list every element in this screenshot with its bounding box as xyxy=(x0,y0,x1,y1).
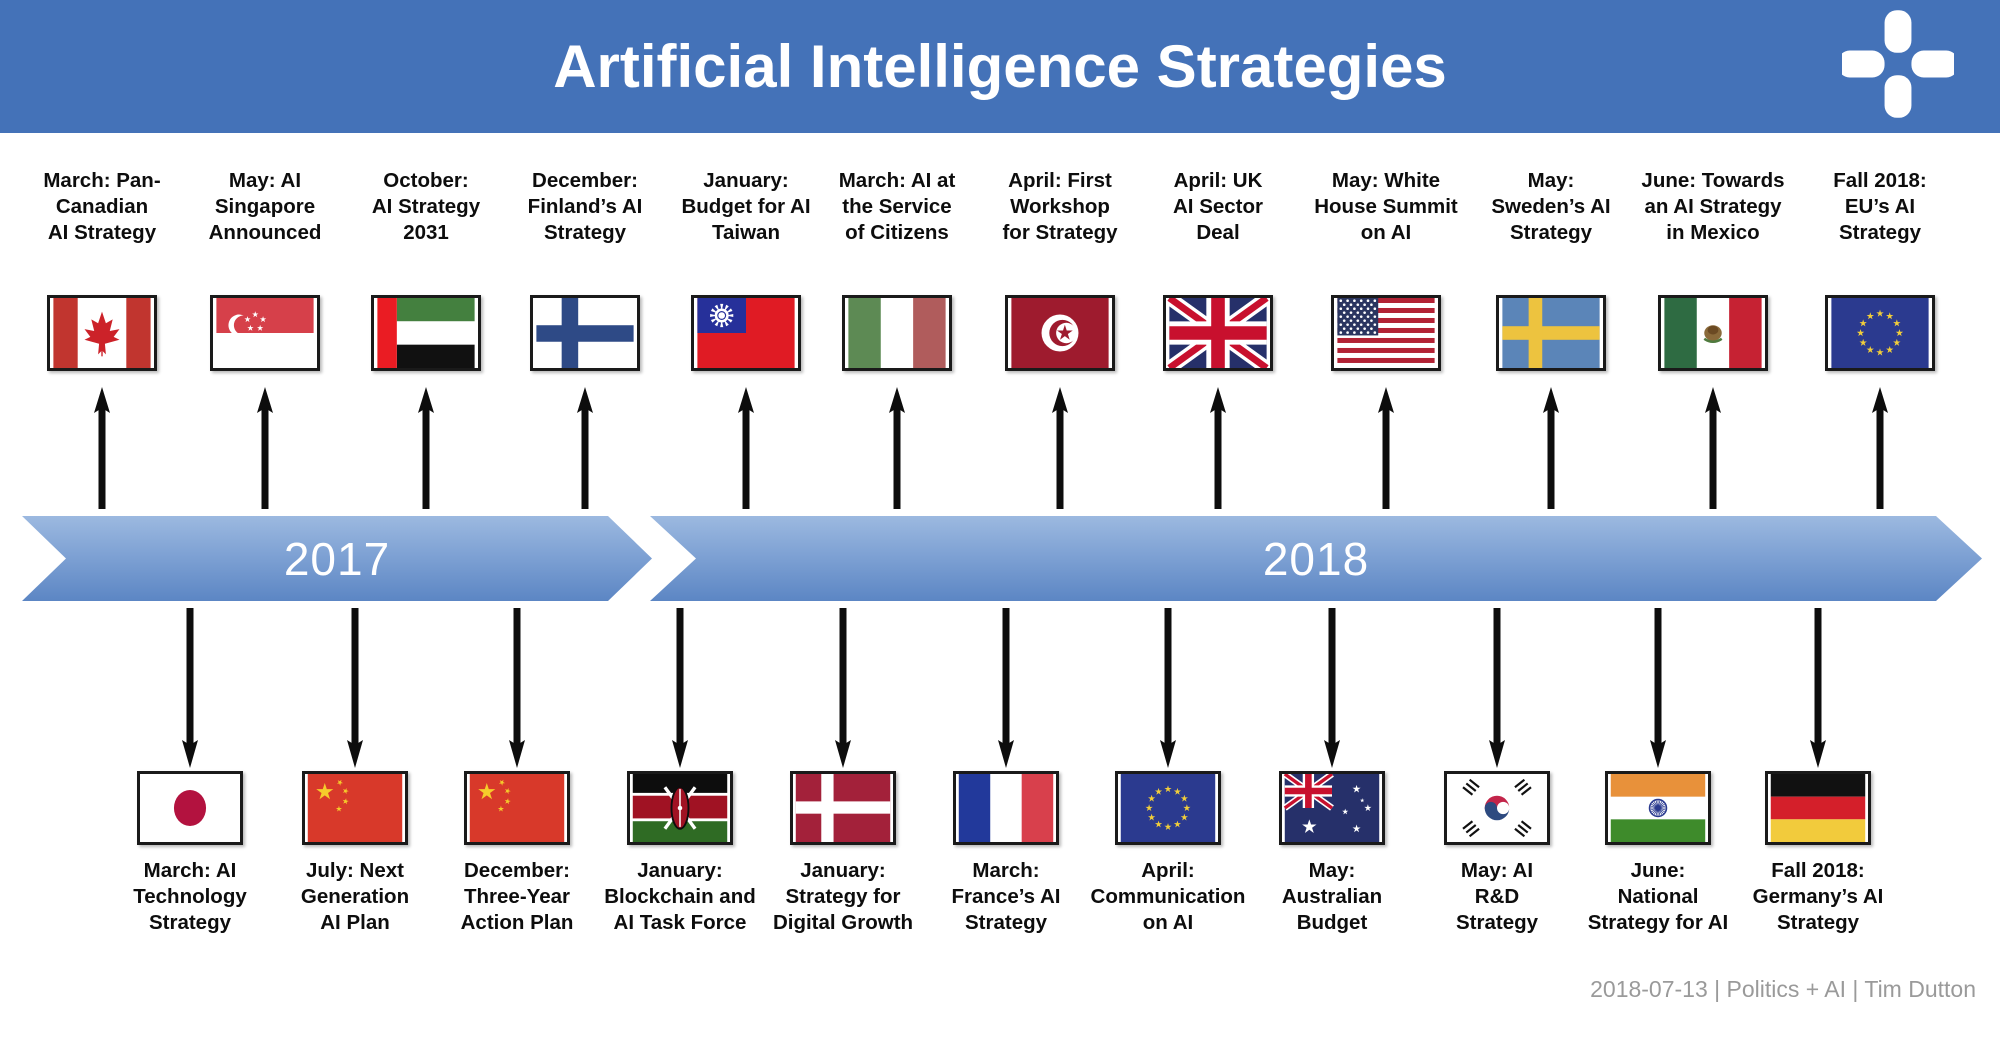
label-line: Technology xyxy=(133,884,247,910)
bottom-event-label-10: June:NationalStrategy for AI xyxy=(1588,858,1729,937)
flag-south-korea xyxy=(1444,771,1550,845)
label-line: Germany’s AI xyxy=(1753,884,1884,910)
top-flag-wrapper-10 xyxy=(1496,295,1606,371)
top-flag-wrapper-2 xyxy=(210,295,320,371)
top-flag-wrapper-3 xyxy=(371,295,481,371)
label-line: May: White xyxy=(1314,168,1458,194)
flag-mexico xyxy=(1658,295,1768,371)
label-line: July: Next xyxy=(301,858,409,884)
bottom-event-label-1: March: AITechnologyStrategy xyxy=(133,858,247,937)
bottom-flag-wrapper-7 xyxy=(1115,771,1221,845)
arrow-down-icon xyxy=(1321,608,1343,768)
arrow-down-icon xyxy=(179,608,201,768)
arrow-up-icon xyxy=(886,387,908,509)
label-line: for Strategy xyxy=(1002,220,1117,246)
flag-germany xyxy=(1765,771,1871,845)
arrow-down-icon xyxy=(832,608,854,768)
flag-canada xyxy=(47,295,157,371)
bottom-flag-wrapper-9 xyxy=(1444,771,1550,845)
label-line: May: xyxy=(1491,168,1610,194)
label-line: R&D xyxy=(1456,884,1538,910)
bottom-event-label-9: May: AIR&DStrategy xyxy=(1456,858,1538,937)
label-line: EU’s AI xyxy=(1833,194,1926,220)
flag-taiwan xyxy=(691,295,801,371)
label-line: January: xyxy=(773,858,913,884)
arrow-up-icon xyxy=(1702,387,1724,509)
label-line: Sweden’s AI xyxy=(1491,194,1610,220)
label-line: April: UK xyxy=(1173,168,1263,194)
top-flag-wrapper-6 xyxy=(842,295,952,371)
label-line: Strategy xyxy=(1833,220,1926,246)
label-line: Generation xyxy=(301,884,409,910)
arrow-down-icon xyxy=(1647,608,1669,768)
bottom-event-label-6: March:France’s AIStrategy xyxy=(952,858,1061,937)
label-line: the Service xyxy=(839,194,956,220)
label-line: Canadian xyxy=(43,194,160,220)
label-line: Deal xyxy=(1173,220,1263,246)
flag-india xyxy=(1605,771,1711,845)
footer-credit: 2018-07-13 | Politics + AI | Tim Dutton xyxy=(1590,976,1976,1003)
arrow-up-icon xyxy=(91,387,113,509)
label-line: March: AI at xyxy=(839,168,956,194)
label-line: AI Task Force xyxy=(604,910,756,936)
flag-finland xyxy=(530,295,640,371)
label-line: May: xyxy=(1282,858,1382,884)
arrow-up-icon xyxy=(1049,387,1071,509)
flag-australia xyxy=(1279,771,1385,845)
bottom-flag-wrapper-10 xyxy=(1605,771,1711,845)
flag-kenya xyxy=(627,771,733,845)
flag-china xyxy=(464,771,570,845)
bottom-event-label-3: December:Three-YearAction Plan xyxy=(461,858,574,937)
label-line: Strategy xyxy=(528,220,643,246)
label-line: Communication xyxy=(1091,884,1246,910)
bottom-flag-wrapper-2 xyxy=(302,771,408,845)
label-line: January: xyxy=(604,858,756,884)
label-line: AI Plan xyxy=(301,910,409,936)
top-flag-wrapper-9 xyxy=(1331,295,1441,371)
label-line: Strategy xyxy=(1456,910,1538,936)
bottom-flag-wrapper-3 xyxy=(464,771,570,845)
label-line: Singapore xyxy=(209,194,322,220)
bottom-flag-wrapper-1 xyxy=(137,771,243,845)
bottom-event-label-8: May:AustralianBudget xyxy=(1282,858,1382,937)
arrow-up-icon xyxy=(254,387,276,509)
arrow-down-icon xyxy=(1807,608,1829,768)
page-title: Artificial Intelligence Strategies xyxy=(553,37,1447,97)
arrow-up-icon xyxy=(1207,387,1229,509)
arrow-down-icon xyxy=(1486,608,1508,768)
flag-italy xyxy=(842,295,952,371)
label-line: Workshop xyxy=(1002,194,1117,220)
label-line: May: AI xyxy=(209,168,322,194)
arrow-down-icon xyxy=(995,608,1017,768)
timeline-bar: 2017 2018 xyxy=(0,516,2000,601)
label-line: of Citizens xyxy=(839,220,956,246)
header-banner: Artificial Intelligence Strategies xyxy=(0,0,2000,133)
flag-tunisia xyxy=(1005,295,1115,371)
timeline-year-2017: 2017 xyxy=(22,516,652,601)
top-flag-wrapper-4 xyxy=(530,295,640,371)
label-line: 2031 xyxy=(372,220,480,246)
label-line: Action Plan xyxy=(461,910,574,936)
bottom-flag-wrapper-6 xyxy=(953,771,1059,845)
arrow-up-icon xyxy=(735,387,757,509)
label-line: Blockchain and xyxy=(604,884,756,910)
top-flag-wrapper-11 xyxy=(1658,295,1768,371)
bottom-flag-wrapper-4 xyxy=(627,771,733,845)
label-line: AI Strategy xyxy=(372,194,480,220)
top-flag-wrapper-8 xyxy=(1163,295,1273,371)
arrow-up-icon xyxy=(574,387,596,509)
flag-singapore xyxy=(210,295,320,371)
arrow-up-icon xyxy=(415,387,437,509)
label-line: Taiwan xyxy=(681,220,810,246)
flag-european-union xyxy=(1825,295,1935,371)
label-line: March: AI xyxy=(133,858,247,884)
label-line: House Summit xyxy=(1314,194,1458,220)
label-line: Strategy xyxy=(133,910,247,936)
label-line: in Mexico xyxy=(1641,220,1784,246)
label-line: Strategy xyxy=(952,910,1061,936)
bottom-flag-wrapper-5 xyxy=(790,771,896,845)
label-line: Digital Growth xyxy=(773,910,913,936)
flag-united-kingdom xyxy=(1163,295,1273,371)
label-line: on AI xyxy=(1314,220,1458,246)
label-line: Strategy xyxy=(1753,910,1884,936)
label-line: Fall 2018: xyxy=(1753,858,1884,884)
bottom-event-label-7: April:Communicationon AI xyxy=(1091,858,1246,937)
bottom-event-label-2: July: NextGenerationAI Plan xyxy=(301,858,409,937)
top-flag-wrapper-12 xyxy=(1825,295,1935,371)
flag-sweden xyxy=(1496,295,1606,371)
plus-cross-logo xyxy=(1842,8,1954,120)
label-line: Strategy for AI xyxy=(1588,910,1729,936)
flag-uae xyxy=(371,295,481,371)
flag-china xyxy=(302,771,408,845)
label-line: Budget for AI xyxy=(681,194,810,220)
flag-denmark xyxy=(790,771,896,845)
label-line: AI Strategy xyxy=(43,220,160,246)
infographic-root: Artificial Intelligence Strategies 2017 … xyxy=(0,0,2000,1047)
label-line: Finland’s AI xyxy=(528,194,643,220)
flag-united-states xyxy=(1331,295,1441,371)
label-line: January: xyxy=(681,168,810,194)
label-line: June: Towards xyxy=(1641,168,1784,194)
arrow-up-icon xyxy=(1375,387,1397,509)
label-line: Strategy for xyxy=(773,884,913,910)
label-line: May: AI xyxy=(1456,858,1538,884)
label-line: Three-Year xyxy=(461,884,574,910)
arrow-down-icon xyxy=(669,608,691,768)
label-line: Announced xyxy=(209,220,322,246)
label-line: National xyxy=(1588,884,1729,910)
bottom-event-label-4: January:Blockchain andAI Task Force xyxy=(604,858,756,937)
bottom-event-label-5: January:Strategy forDigital Growth xyxy=(773,858,913,937)
label-line: April: xyxy=(1091,858,1246,884)
label-line: April: First xyxy=(1002,168,1117,194)
flag-european-union xyxy=(1115,771,1221,845)
label-line: France’s AI xyxy=(952,884,1061,910)
label-line: October: xyxy=(372,168,480,194)
bottom-event-label-11: Fall 2018:Germany’s AIStrategy xyxy=(1753,858,1884,937)
timeline-year-2018: 2018 xyxy=(650,516,1982,601)
label-line: March: xyxy=(952,858,1061,884)
arrow-down-icon xyxy=(506,608,528,768)
arrow-down-icon xyxy=(1157,608,1179,768)
bottom-flag-wrapper-8 xyxy=(1279,771,1385,845)
label-line: AI Sector xyxy=(1173,194,1263,220)
arrow-up-icon xyxy=(1869,387,1891,509)
label-line: on AI xyxy=(1091,910,1246,936)
top-flag-wrapper-5 xyxy=(691,295,801,371)
label-line: December: xyxy=(528,168,643,194)
top-flag-wrapper-7 xyxy=(1005,295,1115,371)
label-line: Australian xyxy=(1282,884,1382,910)
label-line: December: xyxy=(461,858,574,884)
label-line: an AI Strategy xyxy=(1641,194,1784,220)
label-line: Strategy xyxy=(1491,220,1610,246)
label-line: June: xyxy=(1588,858,1729,884)
arrow-down-icon xyxy=(344,608,366,768)
label-line: March: Pan- xyxy=(43,168,160,194)
label-line: Fall 2018: xyxy=(1833,168,1926,194)
flag-japan xyxy=(137,771,243,845)
bottom-flag-wrapper-11 xyxy=(1765,771,1871,845)
label-line: Budget xyxy=(1282,910,1382,936)
top-flag-wrapper-1 xyxy=(47,295,157,371)
flag-france xyxy=(953,771,1059,845)
arrow-up-icon xyxy=(1540,387,1562,509)
